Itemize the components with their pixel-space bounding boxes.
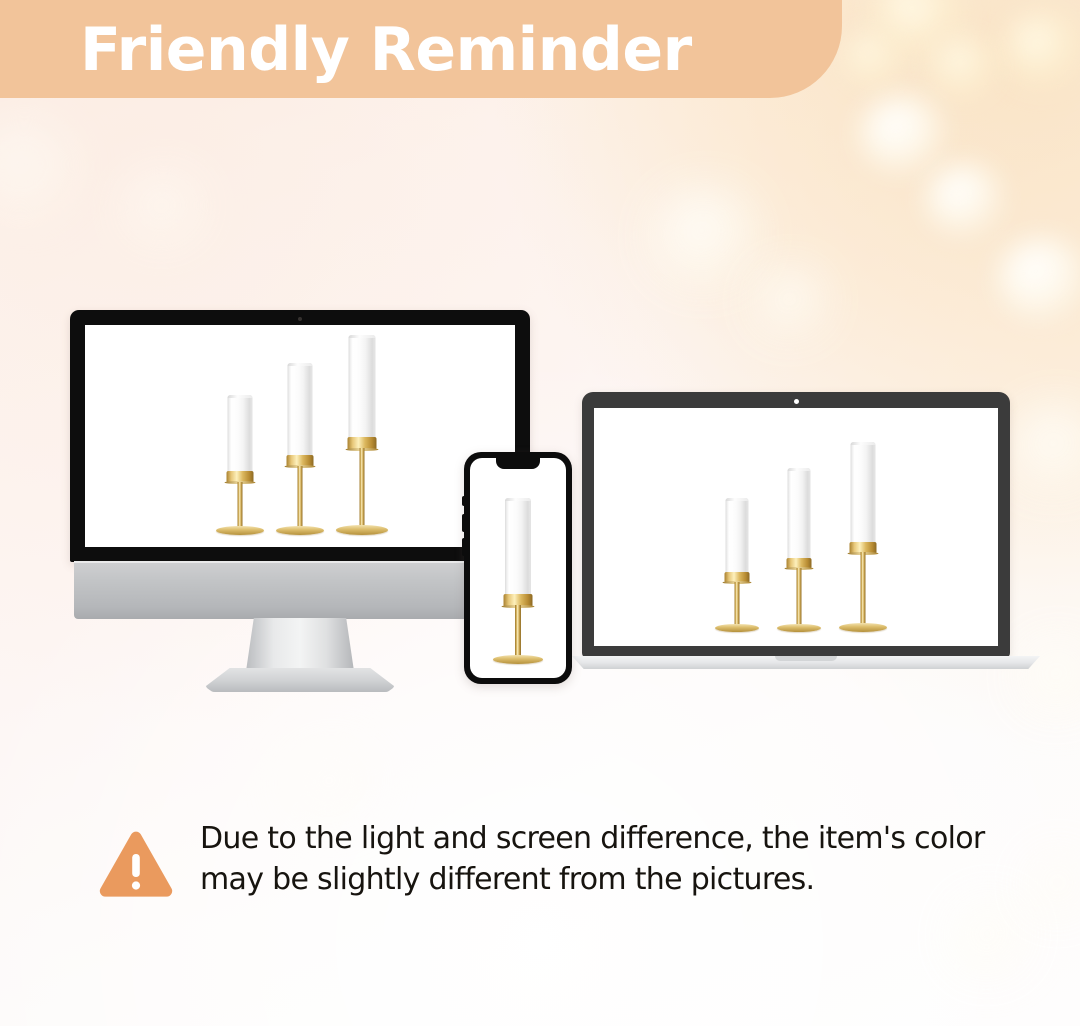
disclaimer-text: Due to the light and screen difference, … <box>200 818 1028 900</box>
product-candlestick <box>768 466 830 632</box>
gold-base <box>777 624 821 632</box>
gold-stem <box>797 568 802 628</box>
phone-notch <box>496 458 540 469</box>
page-title: Friendly Reminder <box>80 10 692 90</box>
phone-mute-button[interactable] <box>462 496 464 506</box>
phone-frame <box>464 452 572 684</box>
header-banner: Friendly Reminder <box>0 0 842 98</box>
gold-base <box>276 526 324 535</box>
gold-base <box>336 525 388 535</box>
glass-cylinder <box>228 395 253 473</box>
webcam-icon <box>298 317 302 321</box>
gold-stem <box>735 582 740 628</box>
laptop-trackpad-notch <box>775 656 837 661</box>
gold-stem <box>360 448 365 530</box>
smartphone <box>464 452 572 684</box>
glass-cylinder <box>788 468 811 560</box>
gold-stem <box>298 466 303 530</box>
monitor-screen <box>85 325 515 547</box>
reminder-page: Friendly Reminder <box>0 0 1080 1026</box>
product-candlestick <box>327 331 397 535</box>
disclaimer-note: Due to the light and screen difference, … <box>98 818 1028 914</box>
glass-cylinder <box>505 498 531 596</box>
monitor-stand-foot <box>205 668 395 692</box>
monitor-chin <box>74 561 526 619</box>
laptop <box>572 392 1040 674</box>
product-candlestick <box>706 496 768 632</box>
gold-base <box>493 655 543 664</box>
laptop-screen <box>594 408 998 646</box>
phone-screen <box>470 458 566 678</box>
gold-stem <box>515 605 521 659</box>
gold-base <box>216 526 264 535</box>
phone-volume-up-button[interactable] <box>462 514 464 532</box>
warning-triangle-icon <box>98 830 174 900</box>
product-candlestick <box>267 363 333 535</box>
gold-base <box>715 624 759 632</box>
glass-cylinder <box>726 498 749 574</box>
product-candlestick <box>830 436 896 632</box>
product-candlestick <box>486 492 550 664</box>
product-candlestick <box>207 395 273 535</box>
webcam-icon <box>794 399 799 404</box>
monitor-bezel <box>70 310 530 562</box>
glass-cylinder <box>349 335 376 439</box>
glass-cylinder <box>851 442 876 544</box>
gold-stem <box>238 482 243 530</box>
desktop-monitor <box>70 310 530 682</box>
gold-stem <box>861 552 866 628</box>
laptop-bezel <box>582 392 1010 658</box>
glass-cylinder <box>288 363 313 457</box>
gold-base <box>839 623 887 632</box>
phone-volume-down-button[interactable] <box>462 538 464 556</box>
